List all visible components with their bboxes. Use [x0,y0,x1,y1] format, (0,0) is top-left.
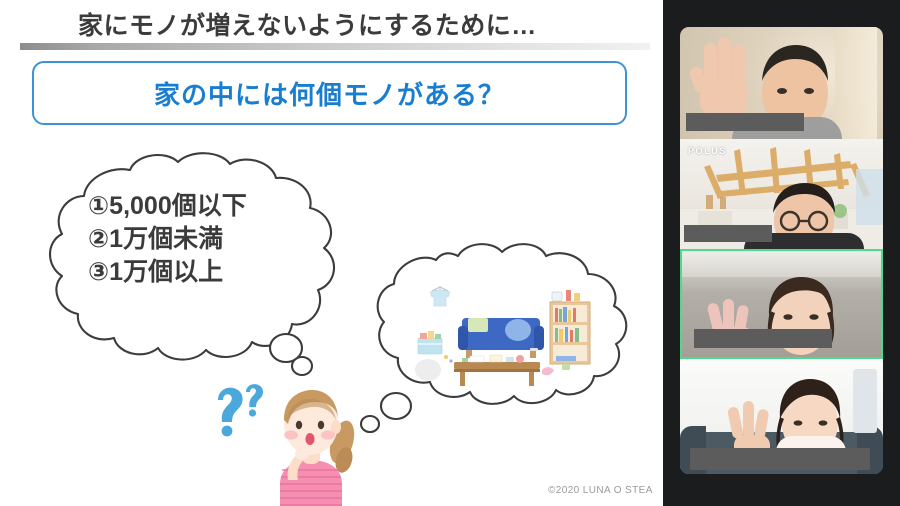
coffee-table-icon [454,355,540,386]
video-tile-participant-3[interactable] [680,249,883,359]
participant-name-redaction [690,448,870,470]
question-box: 家の中には何個モノがある？ [32,61,627,125]
option-item-3: ③1万個以上 [88,256,247,289]
copyright-text: ©2020 LUNA O STEA [548,485,653,496]
question-box-text: 家の中には何個モノがある？ [154,75,505,112]
participant-name-redaction [694,329,832,348]
bookshelf-icon [550,290,590,364]
participant-name-redaction [686,113,804,131]
video-tile-participant-2[interactable]: HOUSING POLUS [680,139,883,249]
sofa-icon [458,318,544,358]
page-title: 家にモノが増えないようにするために… [78,6,537,42]
video-tile-participant-4[interactable] [680,359,883,474]
video-tile-participant-1[interactable] [680,27,883,139]
video-panel: HOUSING POLUS [663,0,900,506]
thinking-woman-illustration [258,380,366,506]
presentation-slide: 家にモノが増えないようにするために… 家の中には何個モノがある？ ①5,000個… [0,0,663,506]
option-item-2: ②1万個未満 [88,223,247,256]
polus-logo: POLUS [688,146,727,156]
polus-sub-label: HOUSING [690,140,711,144]
participant-name-redaction [684,225,772,242]
clutter-icon [542,367,554,375]
options-list: ①5,000個以下 ②1万個未満 ③1万個以上 [88,190,247,289]
title-divider [20,43,650,50]
hanging-shirt-icon [430,286,450,306]
toy-box-icon [418,331,442,354]
screen-root: 家にモノが増えないようにするために… 家の中には何個モノがある？ ①5,000個… [0,0,900,506]
option-item-1: ①5,000個以下 [88,190,247,223]
room-illustration [410,278,600,390]
